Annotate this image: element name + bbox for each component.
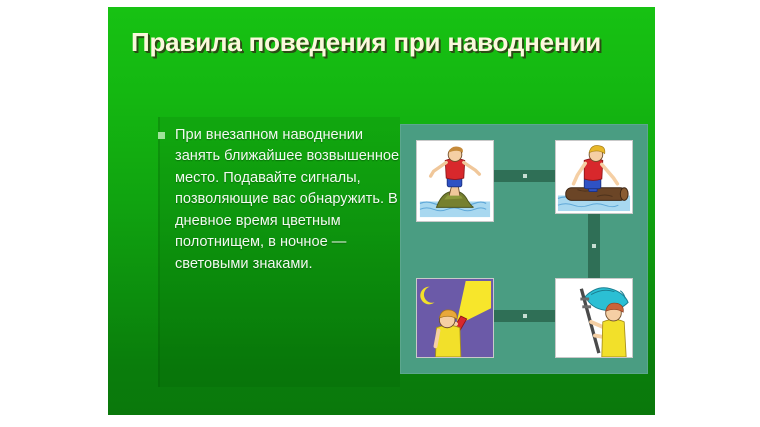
flood-signal-diagram: [400, 124, 648, 374]
diagram-card-night-flashlight[interactable]: [416, 278, 494, 358]
person-waving-blue-cloth-icon: [556, 279, 632, 357]
square-bullet-icon: [158, 132, 165, 139]
connector-bottom-horizontal: [494, 310, 555, 322]
slide-title: Правила поведения при наводнении: [131, 25, 601, 60]
diagram-card-person-on-log[interactable]: [555, 140, 633, 214]
presentation-slide: Правила поведения при наводнении При вне…: [108, 7, 655, 415]
person-on-log-raft-icon: [556, 141, 632, 213]
slide-root: Правила поведения при наводнении При вне…: [0, 0, 760, 427]
person-with-flashlight-at-night-icon: [417, 279, 493, 357]
connector-top-horizontal: [494, 170, 555, 182]
bullet-item-text: При внезапном наводнении занять ближайше…: [175, 125, 406, 275]
connector-right-vertical: [588, 214, 600, 278]
diagram-card-person-on-rock[interactable]: [416, 140, 494, 222]
diagram-card-waving-cloth[interactable]: [555, 278, 633, 358]
person-on-rock-in-flood-icon: [417, 141, 493, 221]
bullet-list-item: При внезапном наводнении занять ближайше…: [158, 125, 406, 275]
